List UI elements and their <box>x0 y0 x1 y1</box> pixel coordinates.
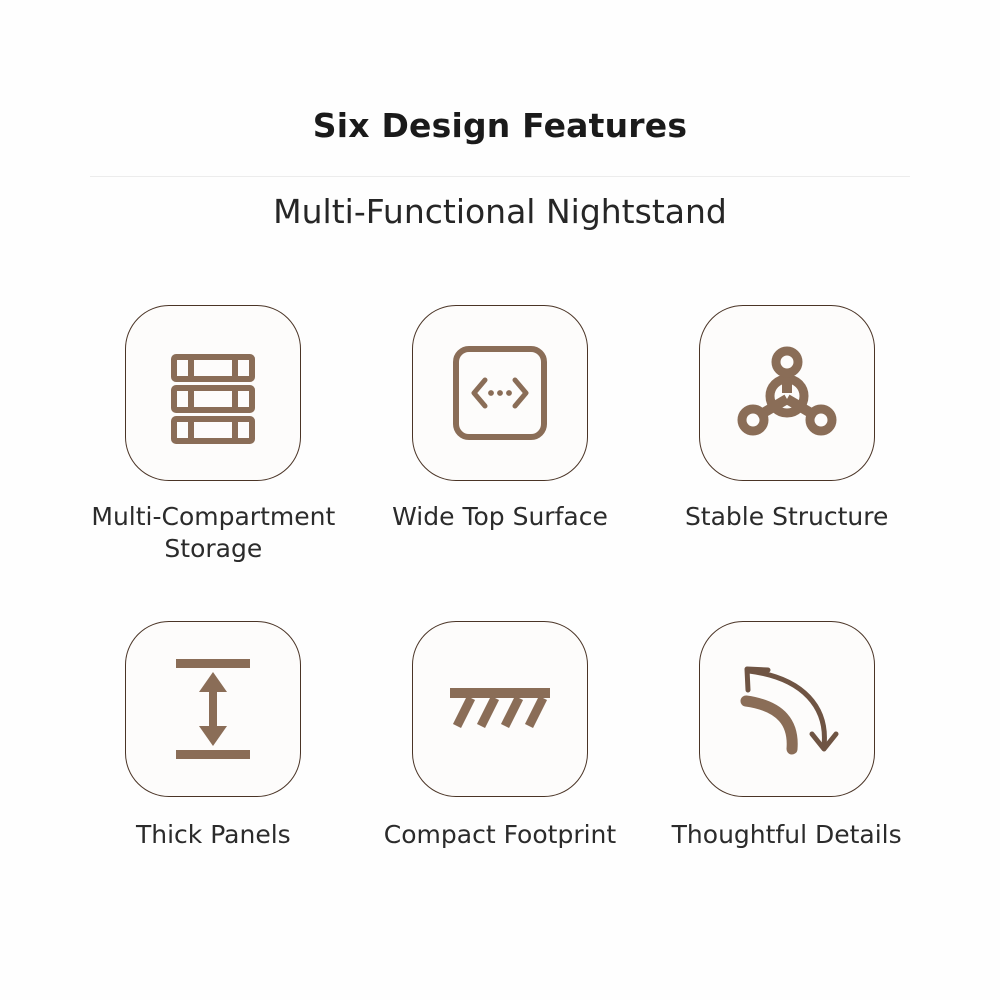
curved-arrows-icon <box>732 654 842 764</box>
feature-item[interactable]: Compact Footprint <box>357 621 644 851</box>
feature-label: Stable Structure <box>685 501 888 533</box>
feature-label: Wide Top Surface <box>392 501 608 533</box>
feature-label: Thoughtful Details <box>672 819 902 851</box>
feature-icon-card[interactable] <box>699 305 875 481</box>
features-grid: Multi-Compartment Storage Wide Top Surfa… <box>70 305 930 851</box>
node-structure-icon <box>732 341 842 445</box>
feature-item[interactable]: Thick Panels <box>70 621 357 851</box>
width-measure-icon <box>452 345 548 441</box>
feature-overview-page: Six Design Features Multi-Functional Nig… <box>0 0 1000 1000</box>
feature-item[interactable]: Wide Top Surface <box>357 305 644 565</box>
feature-item[interactable]: Thoughtful Details <box>643 621 930 851</box>
feature-icon-card[interactable] <box>125 305 301 481</box>
compartment-shelves-icon <box>161 341 265 445</box>
feature-item[interactable]: Multi-Compartment Storage <box>70 305 357 565</box>
hatched-base-icon <box>444 674 556 744</box>
feature-icon-card[interactable] <box>412 621 588 797</box>
feature-item[interactable]: Stable Structure <box>643 305 930 565</box>
feature-label: Compact Footprint <box>384 819 616 851</box>
feature-icon-card[interactable] <box>125 621 301 797</box>
header-divider <box>90 176 910 177</box>
feature-label: Multi-Compartment Storage <box>91 501 335 565</box>
header: Six Design Features <box>0 108 1000 144</box>
feature-icon-card[interactable] <box>412 305 588 481</box>
thickness-arrow-icon <box>165 653 261 765</box>
feature-label: Thick Panels <box>136 819 291 851</box>
page-title: Six Design Features <box>0 108 1000 144</box>
feature-icon-card[interactable] <box>699 621 875 797</box>
page-subtitle: Multi-Functional Nightstand <box>0 192 1000 232</box>
